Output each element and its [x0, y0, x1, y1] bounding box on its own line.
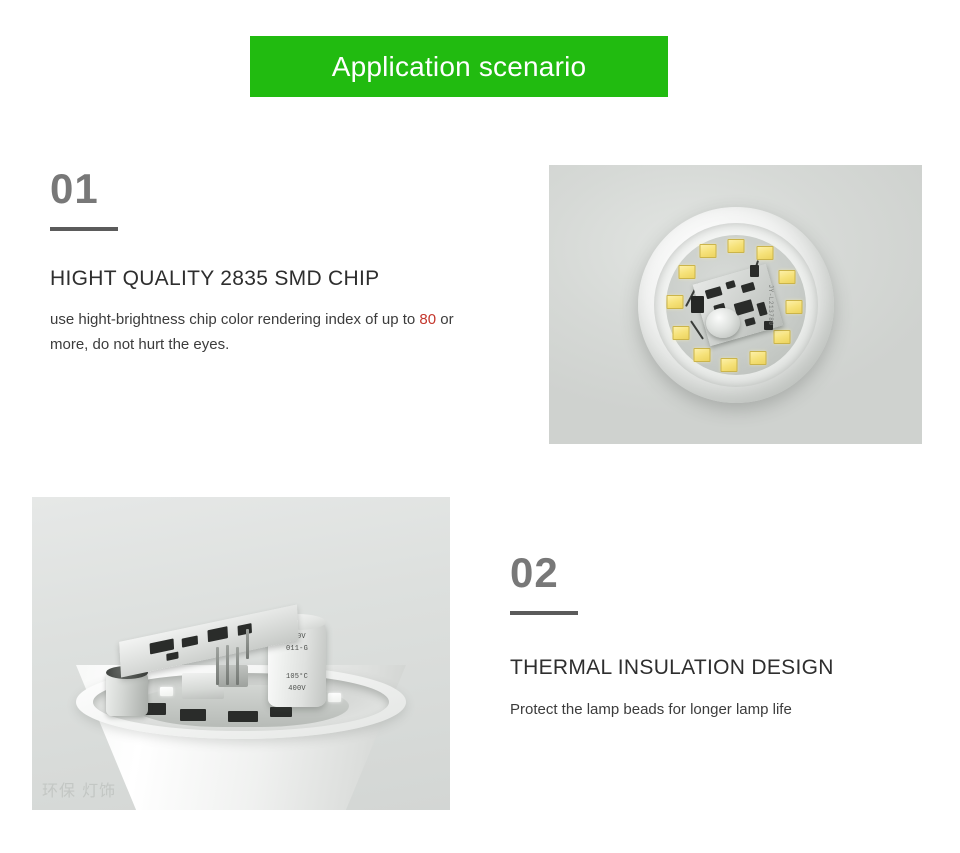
- product-feature-page: Application scenario 01 HIGHT QUALITY 28…: [0, 0, 960, 853]
- feature-body-02: Protect the lamp beads for longer lamp l…: [510, 698, 930, 723]
- driver-chip: [734, 299, 755, 315]
- secondary-electrolytic-capacitor: [106, 672, 148, 716]
- driver-chip: [237, 623, 252, 636]
- led-chip: [773, 330, 790, 344]
- feature-body-02-text-before: Protect the lamp beads for longer lamp l…: [510, 701, 792, 718]
- solder-trace: [690, 320, 704, 339]
- smd-component: [180, 709, 206, 721]
- rectifier-block: [691, 296, 704, 313]
- photo-led-bulb-driver-internals: 400V 011-G 105°C 400V 环保 灯饰: [32, 497, 450, 810]
- led-chip: [672, 326, 689, 340]
- feature-block-02: 02 THERMAL INSULATION DESIGN Protect the…: [510, 552, 930, 723]
- image-watermark: 环保 灯饰: [42, 783, 116, 800]
- photo-2-content: 400V 011-G 105°C 400V 环保 灯饰: [32, 497, 450, 810]
- board-pin: [236, 647, 239, 685]
- photo-led-bulb-front-view: JY-L213780: [549, 165, 922, 444]
- banner-title: Application scenario: [332, 53, 587, 81]
- feature-heading-02: THERMAL INSULATION DESIGN: [510, 655, 930, 680]
- led-chip: [720, 358, 737, 372]
- driver-chip: [207, 626, 228, 642]
- board-pin: [246, 629, 249, 659]
- led-chip: [749, 351, 766, 365]
- feature-body-01-highlight: 80: [419, 311, 436, 328]
- feature-number-02: 02: [510, 552, 930, 594]
- pcb-marking-label: JY-L213780: [767, 284, 774, 325]
- driver-chip: [741, 281, 756, 292]
- led-chip: [699, 244, 716, 258]
- feature-body-01-text-before: use hight-brightness chip color renderin…: [50, 311, 419, 328]
- driver-chip: [166, 651, 178, 660]
- smd-component: [270, 707, 292, 717]
- led-chip: [678, 265, 695, 279]
- led-chip: [756, 246, 773, 260]
- capacitor-series-label: 011-G: [270, 645, 324, 653]
- led-chip: [160, 687, 173, 696]
- feature-rule-01: [50, 227, 118, 231]
- led-chip: [667, 295, 684, 309]
- feature-heading-01: HIGHT QUALITY 2835 SMD CHIP: [50, 266, 480, 291]
- board-connector-secondary: [218, 665, 248, 687]
- feature-number-01: 01: [50, 168, 480, 210]
- capacitor-temperature-label: 105°C: [270, 673, 324, 681]
- feature-block-01: 01 HIGHT QUALITY 2835 SMD CHIP use hight…: [50, 168, 480, 358]
- driver-chip: [745, 317, 757, 326]
- bulb-led-pcb: JY-L213780: [666, 235, 806, 375]
- smd-component: [228, 711, 258, 722]
- driver-chip: [182, 635, 198, 647]
- feature-body-01: use hight-brightness chip color renderin…: [50, 308, 480, 358]
- led-chip: [779, 270, 796, 284]
- board-pin: [216, 647, 219, 685]
- feature-rule-02: [510, 611, 578, 615]
- board-pin: [226, 645, 229, 685]
- electrolytic-capacitor: [706, 308, 740, 338]
- photo-1-content: JY-L213780: [549, 165, 922, 444]
- led-chip: [693, 348, 710, 362]
- driver-chip: [726, 280, 737, 289]
- led-chip: [786, 300, 803, 314]
- section-banner: Application scenario: [250, 36, 668, 97]
- driver-chip: [705, 286, 723, 299]
- led-chip: [727, 239, 744, 253]
- smd-resistor: [750, 265, 759, 277]
- capacitor-voltage-label-bottom: 400V: [270, 685, 324, 693]
- led-chip: [328, 693, 341, 702]
